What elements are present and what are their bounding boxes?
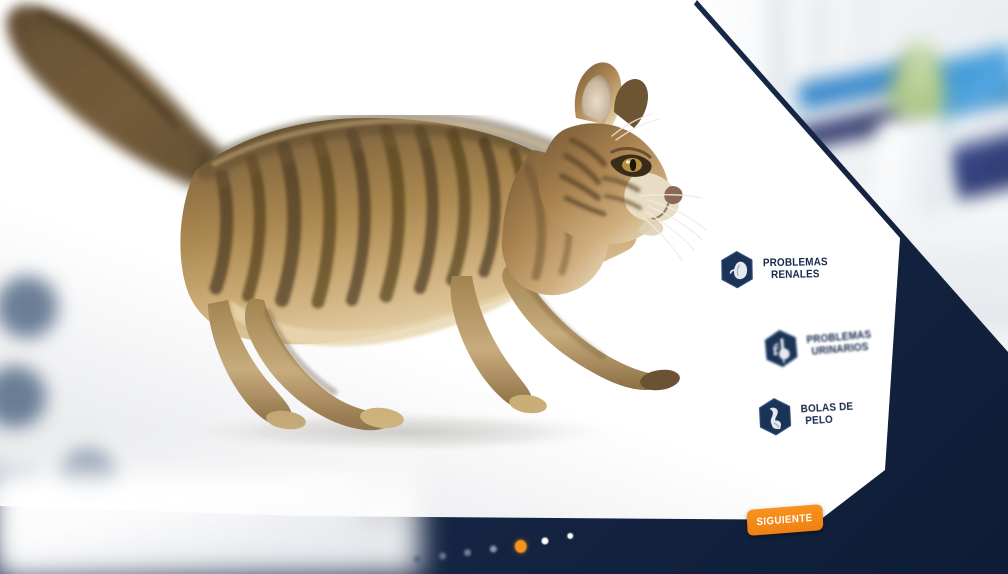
benefit-label-renal: PROBLEMAS RENALES — [763, 255, 836, 281]
cat-head — [539, 62, 706, 260]
cat-tail — [6, 4, 222, 192]
benefit-item-renal[interactable]: PROBLEMAS RENALES — [720, 249, 836, 289]
pagination-dot-4[interactable] — [490, 545, 497, 552]
next-button-label: SIGUIENTE — [757, 512, 814, 528]
hairball-icon — [757, 397, 793, 437]
benefit-item-urinary[interactable]: PROBLEMAS URINARIOS — [763, 321, 881, 369]
pagination-dot-5-active[interactable] — [514, 540, 527, 554]
benefit-list: PROBLEMAS RENALES PROBLEMAS URINARIOS — [706, 236, 936, 456]
pagination-dot-1[interactable] — [414, 556, 421, 563]
cat-illustration — [0, 0, 720, 470]
bladder-icon — [763, 328, 800, 369]
plant-pot — [878, 120, 948, 216]
pagination-dot-2[interactable] — [439, 552, 446, 559]
pagination-dot-6[interactable] — [541, 537, 548, 544]
benefit-label-hairball: BOLAS DE PELO — [800, 400, 860, 428]
tablet-presentation-screenshot: PROBLEMAS RENALES PROBLEMAS URINARIOS — [0, 0, 1008, 574]
plant-foliage-top — [900, 30, 940, 90]
benefit-item-hairball[interactable]: BOLAS DE PELO — [757, 393, 860, 436]
pagination-dot-7[interactable] — [567, 533, 573, 539]
bottom-left-blur-veil — [0, 478, 360, 574]
kidney-icon — [720, 250, 755, 289]
benefit-label-urinary: PROBLEMAS URINARIOS — [806, 328, 880, 359]
pagination-dot-3[interactable] — [464, 549, 471, 556]
